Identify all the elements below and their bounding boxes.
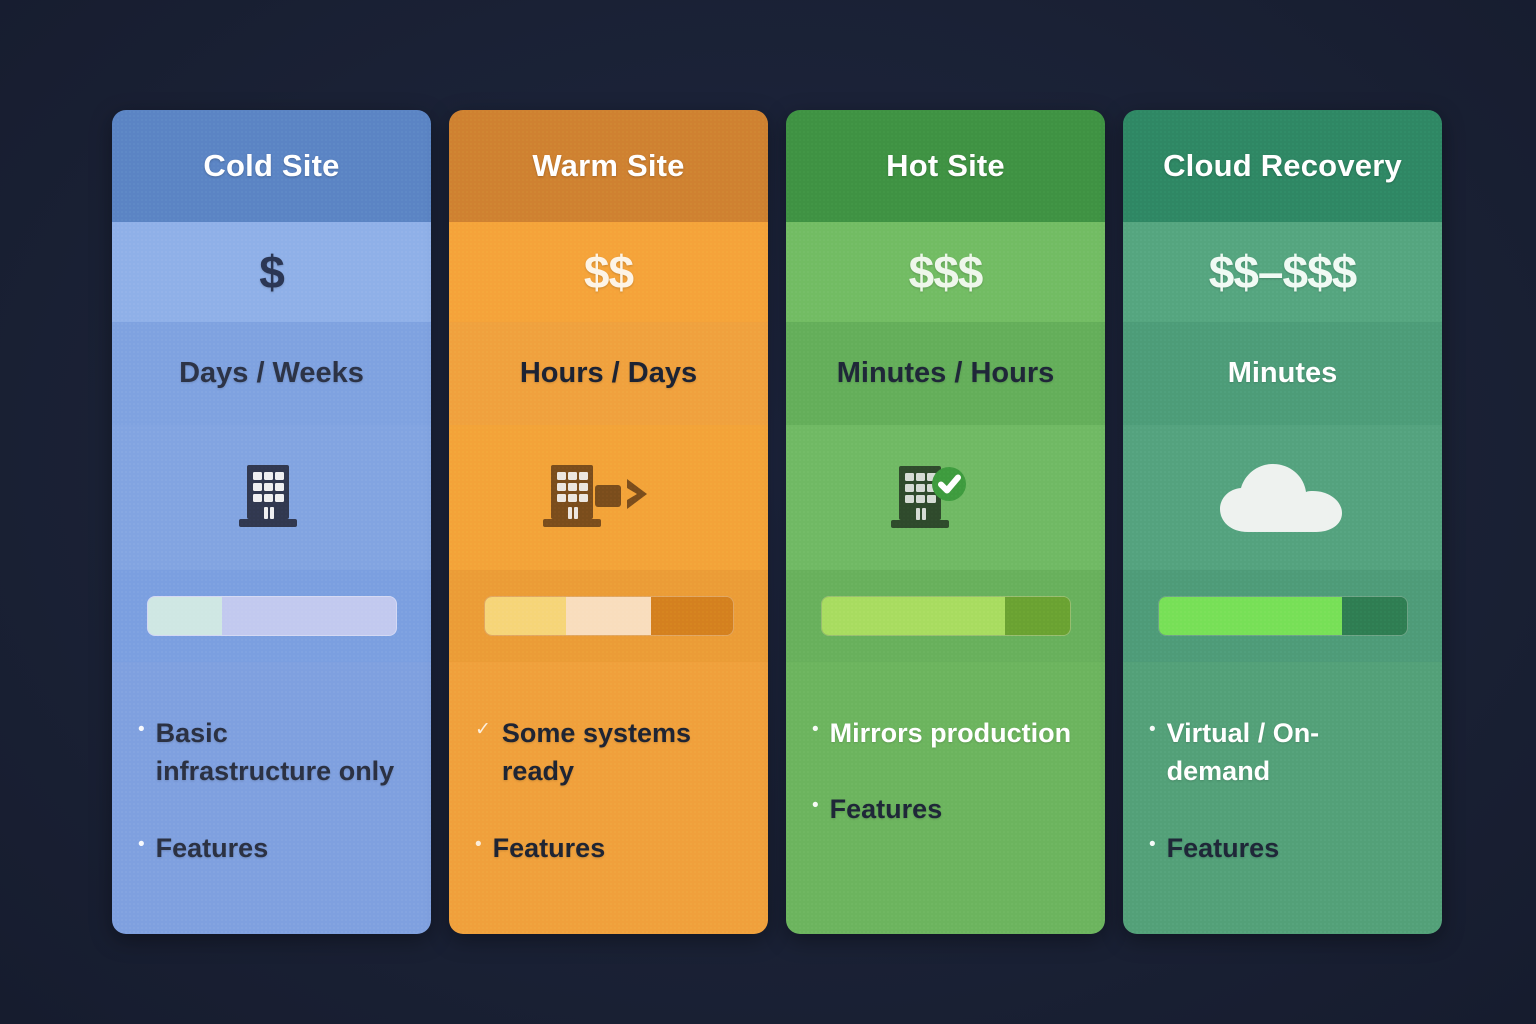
column-header: Cloud Recovery: [1123, 110, 1442, 222]
feature-list: • Virtual / On-demand • Features: [1123, 662, 1442, 934]
recovery-time-row: Minutes: [1123, 322, 1442, 425]
cost-row: $$$: [786, 222, 1105, 322]
comparison-column-cold-site[interactable]: Cold Site $ Days / Weeks: [112, 110, 431, 934]
column-title: Hot Site: [886, 148, 1005, 184]
readiness-bar-segment: [1159, 597, 1343, 635]
readiness-bar-segment: [1342, 597, 1406, 635]
comparison-column-hot-site[interactable]: Hot Site $$$ Minutes / Hours: [786, 110, 1105, 934]
comparison-column-warm-site[interactable]: Warm Site $$ Hours / Days: [449, 110, 768, 934]
cost-label: $$–$$$: [1209, 245, 1357, 299]
bullet-dot-icon: •: [812, 790, 819, 817]
feature-label: Some systems ready: [502, 714, 744, 791]
column-header: Cold Site: [112, 110, 431, 222]
column-title: Cloud Recovery: [1163, 148, 1402, 184]
readiness-bar-row: [1123, 570, 1442, 662]
cost-row: $$: [449, 222, 768, 322]
recovery-time-row: Hours / Days: [449, 322, 768, 425]
readiness-bar-row: [786, 570, 1105, 662]
bullet-dot-icon: •: [138, 829, 145, 856]
cost-row: $: [112, 222, 431, 322]
feature-list: • Mirrors production • Features: [786, 662, 1105, 934]
readiness-bar-segment: [1005, 597, 1069, 635]
building-icon: [212, 455, 332, 541]
cloud-icon: [1208, 455, 1358, 541]
recovery-time-row: Days / Weeks: [112, 322, 431, 425]
bullet-dot-icon: •: [1149, 714, 1156, 741]
cost-label: $: [259, 245, 284, 299]
bullet-dot-icon: •: [812, 714, 819, 741]
recovery-time-label: Hours / Days: [520, 357, 697, 390]
recovery-time-row: Minutes / Hours: [786, 322, 1105, 425]
feature-label: Mirrors production: [830, 714, 1072, 752]
readiness-bar[interactable]: [1158, 596, 1408, 636]
feature-item[interactable]: • Features: [475, 829, 744, 867]
readiness-bar-segment: [822, 597, 1006, 635]
readiness-bar-segment: [148, 597, 222, 635]
feature-item[interactable]: • Features: [1149, 829, 1418, 867]
readiness-bar-segment: [566, 597, 650, 635]
building-arrow-icon: [534, 455, 684, 541]
feature-list: • Basic infrastructure only • Features: [112, 662, 431, 934]
column-header: Hot Site: [786, 110, 1105, 222]
comparison-column-cloud-recovery[interactable]: Cloud Recovery $$–$$$ Minutes • Virtual …: [1123, 110, 1442, 934]
bullet-dot-icon: •: [1149, 829, 1156, 856]
feature-label: Features: [830, 790, 943, 828]
readiness-bar[interactable]: [821, 596, 1071, 636]
feature-list: ✓ Some systems ready • Features: [449, 662, 768, 934]
recovery-time-label: Days / Weeks: [179, 357, 364, 390]
readiness-bar[interactable]: [484, 596, 734, 636]
readiness-bar-segment: [222, 597, 396, 635]
icon-row: [449, 425, 768, 570]
icon-row: [1123, 425, 1442, 570]
comparison-canvas: Cold Site $ Days / Weeks: [0, 0, 1536, 1024]
feature-item[interactable]: ✓ Some systems ready: [475, 714, 744, 791]
icon-row: [112, 425, 431, 570]
feature-item[interactable]: • Mirrors production: [812, 714, 1081, 752]
readiness-bar[interactable]: [147, 596, 397, 636]
feature-item[interactable]: • Features: [138, 829, 407, 867]
icon-row: [786, 425, 1105, 570]
feature-item[interactable]: • Virtual / On-demand: [1149, 714, 1418, 791]
recovery-time-label: Minutes: [1228, 357, 1338, 390]
bullet-dot-icon: •: [475, 829, 482, 856]
feature-item[interactable]: • Features: [812, 790, 1081, 828]
column-title: Warm Site: [532, 148, 684, 184]
readiness-bar-row: [449, 570, 768, 662]
readiness-bar-segment: [651, 597, 733, 635]
cost-label: $$: [584, 245, 633, 299]
check-mark-icon: ✓: [475, 714, 491, 741]
comparison-grid: Cold Site $ Days / Weeks: [112, 110, 1442, 934]
feature-label: Features: [156, 829, 269, 867]
cost-row: $$–$$$: [1123, 222, 1442, 322]
readiness-bar-segment: [485, 597, 567, 635]
feature-label: Features: [1167, 829, 1280, 867]
column-title: Cold Site: [203, 148, 339, 184]
bullet-dot-icon: •: [138, 714, 145, 741]
feature-label: Basic infrastructure only: [156, 714, 407, 791]
recovery-time-label: Minutes / Hours: [837, 357, 1055, 390]
cost-label: $$$: [909, 245, 983, 299]
feature-item[interactable]: • Basic infrastructure only: [138, 714, 407, 791]
column-header: Warm Site: [449, 110, 768, 222]
feature-label: Features: [493, 829, 606, 867]
building-check-icon: [881, 455, 1011, 541]
feature-label: Virtual / On-demand: [1167, 714, 1418, 791]
readiness-bar-row: [112, 570, 431, 662]
